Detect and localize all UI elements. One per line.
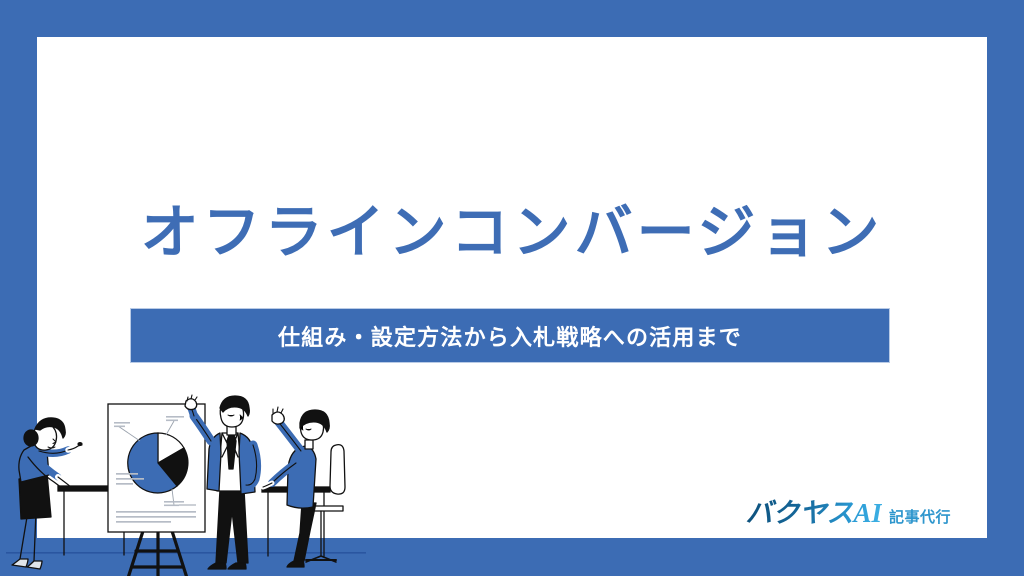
white-content-card: オフラインコンバージョン 仕組み・設定方法から入札戦略への活用まで バクヤスAI…	[37, 37, 987, 538]
slide-canvas: オフラインコンバージョン 仕組み・設定方法から入札戦略への活用まで バクヤスAI…	[0, 0, 1024, 576]
brand-name: バクヤスAI	[745, 491, 882, 530]
brand-logo: バクヤスAI 記事代行	[745, 491, 951, 530]
brand-service-label: 記事代行	[889, 506, 951, 527]
subtitle-banner: 仕組み・設定方法から入札戦略への活用まで	[130, 308, 890, 363]
floor-strip	[6, 553, 366, 576]
page-title: オフラインコンバージョン	[37, 202, 987, 265]
subtitle-text: 仕組み・設定方法から入札戦略への活用まで	[278, 320, 742, 352]
